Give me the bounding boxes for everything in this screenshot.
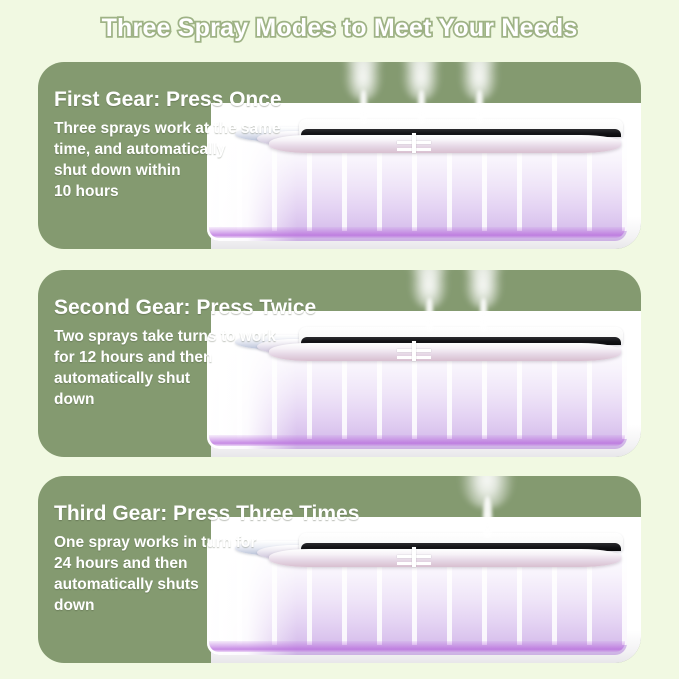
humidifier-grille-icon (397, 133, 431, 153)
product-image-third-gear (221, 476, 641, 663)
humidifier-lid-front (269, 343, 621, 361)
mode-card-first-gear: First Gear: Press Once Three sprays work… (38, 62, 641, 249)
product-image-first-gear (221, 62, 641, 249)
humidifier-lid-front (269, 549, 621, 567)
humidifier-lid-front (269, 135, 621, 153)
humidifier-grille-icon (397, 341, 431, 361)
product-image-second-gear (221, 270, 641, 457)
humidifier-grille-icon (397, 547, 431, 567)
mode-card-second-gear: Second Gear: Press Twice Two sprays take… (38, 270, 641, 457)
mode-card-third-gear: Third Gear: Press Three Times One spray … (38, 476, 641, 663)
page-title: Three Spray Modes to Meet Your Needs (0, 14, 679, 43)
infographic-page: Three Spray Modes to Meet Your Needs (0, 0, 679, 679)
